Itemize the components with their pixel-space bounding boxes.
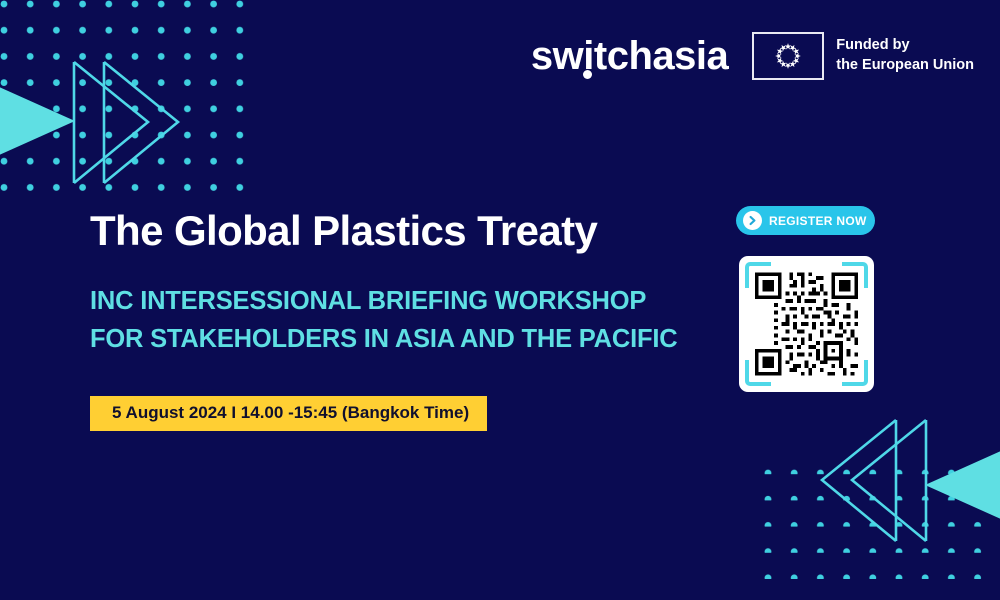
page-title: The Global Plastics Treaty <box>90 208 597 254</box>
date-time-banner: 5 August 2024 I 14.00 -15:45 (Bangkok Ti… <box>90 396 487 431</box>
eu-stars-icon <box>754 34 822 78</box>
subtitle-line-2: FOR STAKEHOLDERS IN ASIA AND THE PACIFIC <box>90 321 677 359</box>
register-now-label: REGISTER NOW <box>769 215 867 227</box>
switchasia-wordmark: switchasia <box>531 34 728 78</box>
switchasia-logo: switchasia <box>531 36 752 76</box>
solid-triangle-bottom-right <box>860 420 1000 550</box>
dot-grid-pattern-bottom-right <box>752 448 1000 600</box>
dot-grid-pattern-top-left <box>0 0 248 196</box>
register-now-button[interactable]: REGISTER NOW <box>736 206 875 235</box>
eu-funding-logo: Funded by the European Union <box>752 32 974 80</box>
qr-code-card[interactable] <box>739 256 874 392</box>
eu-funding-text: Funded by the European Union <box>836 36 974 75</box>
switchasia-dot-icon <box>583 70 592 79</box>
funded-by-line1: Funded by <box>836 36 974 56</box>
qr-code-icon <box>751 268 862 380</box>
header-logos: switchasia <box>531 32 974 80</box>
chevron-right-icon <box>743 211 762 230</box>
outlined-chevron-bottom-right <box>740 418 940 543</box>
funded-by-line2: the European Union <box>836 56 974 76</box>
solid-triangle-top-left <box>0 56 140 186</box>
outlined-chevron-top-left <box>60 60 260 185</box>
subtitle-line-1: INC INTERSESSIONAL BRIEFING WORKSHOP <box>90 283 677 321</box>
poster-canvas: switchasia <box>0 0 1000 600</box>
eu-flag-icon <box>752 32 824 80</box>
page-subtitle: INC INTERSESSIONAL BRIEFING WORKSHOP FOR… <box>90 283 677 358</box>
